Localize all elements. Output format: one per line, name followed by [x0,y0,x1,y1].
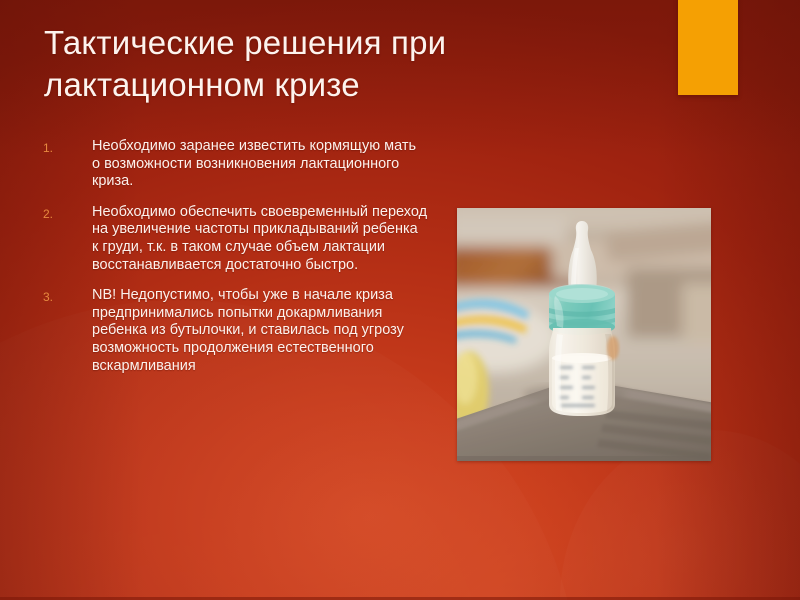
slide-title-line-1: Тактические решения при [44,22,644,64]
slide-canvas: Тактические решения при лактационном кри… [0,0,800,600]
list-item-number: 1. [43,140,73,156]
list-item-text: Необходимо заранее известить кормящую ма… [92,138,428,191]
list-item: 3. NB! Недопустимо, чтобы уже в начале к… [38,287,428,375]
list-item: 1. Необходимо заранее известить кормящую… [38,138,428,191]
list-item-text: NB! Недопустимо, чтобы уже в начале криз… [92,287,428,375]
list-item-number: 3. [43,289,73,305]
slide-title: Тактические решения при лактационном кри… [44,22,644,106]
list-item-text: Необходимо обеспечить своевременный пере… [92,204,428,274]
numbered-list: 1. Необходимо заранее известить кормящую… [38,138,428,388]
slide-title-line-2: лактационном кризе [44,64,644,106]
list-item-number: 2. [43,206,73,222]
list-item: 2. Необходимо обеспечить своевременный п… [38,204,428,274]
baby-bottle-illustration [457,208,711,461]
accent-rectangle [678,0,738,95]
baby-bottle-photo [457,208,711,461]
